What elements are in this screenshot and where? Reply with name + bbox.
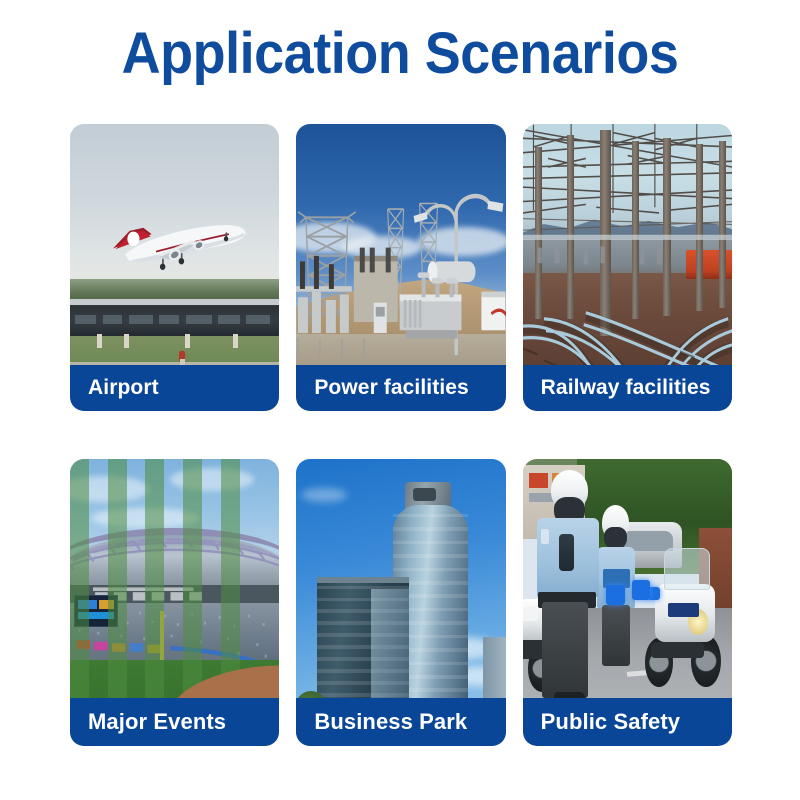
scenario-card-railway-facilities[interactable]: Railway facilities — [523, 124, 732, 411]
application-scenarios-page: Application Scenarios — [0, 0, 800, 800]
scenario-card-airport[interactable]: Airport — [70, 124, 279, 411]
card-caption-power-facilities: Power facilities — [296, 365, 505, 411]
substation-equipment — [296, 176, 505, 383]
stadium-roof-truss — [70, 528, 279, 574]
police-motorcycle-right — [640, 545, 732, 706]
card-caption-major-events: Major Events — [70, 698, 279, 746]
scenario-card-business-park[interactable]: Business Park — [296, 459, 505, 746]
scenario-card-power-facilities[interactable]: Power facilities — [296, 124, 505, 411]
police-officer-left — [535, 470, 606, 734]
scenario-card-grid: Airport — [70, 124, 732, 746]
card-caption-business-park: Business Park — [296, 698, 505, 746]
page-title: Application Scenarios — [28, 18, 772, 90]
card-caption-railway-facilities: Railway facilities — [523, 365, 732, 411]
railway-yard-detail — [523, 227, 732, 279]
card-caption-airport: Airport — [70, 365, 279, 411]
card-caption-public-safety: Public Safety — [523, 698, 732, 746]
scenario-card-public-safety[interactable]: Public Safety — [523, 459, 732, 746]
scenario-card-major-events[interactable]: Major Events — [70, 459, 279, 746]
airplane-silhouette — [91, 199, 256, 271]
